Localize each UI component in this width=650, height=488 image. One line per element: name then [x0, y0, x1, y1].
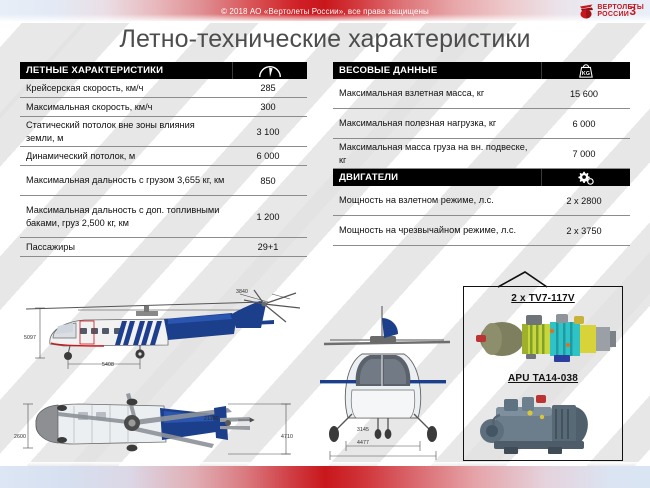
table-row: Максимальная взлетная масса, кг 15 600	[333, 79, 630, 109]
row-label: Мощность на взлетном режиме, л.с.	[333, 186, 538, 215]
row-label: Максимальная скорость, км/ч	[20, 99, 229, 115]
row-label: Максимальная дальность с доп. топливными…	[20, 196, 229, 237]
row-value: 2 x 2800	[538, 193, 630, 209]
apu-model-label: APU TA14-038	[464, 373, 622, 384]
table-row: Статический потолок вне зоны влияния зем…	[20, 117, 307, 147]
table-row: Максимальная дальность с грузом 3,655 кг…	[20, 166, 307, 196]
table-row: Крейсерская скорость, км/ч 285	[20, 79, 307, 98]
engines-header: ДВИГАТЕЛИ	[333, 169, 630, 186]
table-row: Мощность на чрезвычайном режиме, л.с. 2 …	[333, 216, 630, 246]
helicopter-front-view	[312, 300, 462, 460]
engine-model-label: 2 x TV7-117V	[464, 293, 622, 304]
weight-data-header: ВЕСОВЫЕ ДАННЫЕ KG	[333, 62, 630, 79]
dimension-3145: 3145	[357, 427, 369, 433]
dimension-4710: 4710	[281, 434, 293, 440]
engine-callout-box: 2 x TV7-117V	[463, 286, 623, 461]
row-value: 1 200	[229, 209, 307, 225]
footer-copyright: © 2018 АО «Вертолеты России», все права …	[0, 0, 650, 22]
row-label: Максимальная взлетная масса, кг	[333, 79, 538, 108]
table-row: Максимальная масса груза на вн. подвеске…	[333, 139, 630, 169]
row-value: 850	[229, 173, 307, 189]
apu-unit-image	[470, 391, 618, 457]
gears-icon	[541, 169, 630, 186]
flight-performance-table: ЛЕТНЫЕ ХАРАКТЕРИСТИКИ Крейсерская скорос…	[20, 62, 307, 257]
row-label: Мощность на чрезвычайном режиме, л.с.	[333, 216, 538, 245]
table-row: Максимальная полезная нагрузка, кг 6 000	[333, 109, 630, 139]
dimension-21100: 21100	[204, 416, 219, 422]
flight-performance-header-label: ЛЕТНЫЕ ХАРАКТЕРИСТИКИ	[26, 65, 163, 76]
row-value: 7 000	[538, 146, 630, 162]
helicopter-side-view	[18, 288, 308, 378]
speedometer-icon	[232, 62, 307, 79]
svg-text:KG: KG	[582, 71, 590, 77]
row-value: 2 x 3750	[538, 223, 630, 239]
footer-bar	[0, 466, 650, 488]
row-value: 285	[229, 80, 307, 96]
dimension-4477: 4477	[357, 440, 369, 446]
row-label: Максимальная полезная нагрузка, кг	[333, 109, 538, 138]
row-label: Пассажиры	[20, 239, 229, 255]
table-row: Максимальная дальность с доп. топливными…	[20, 196, 307, 238]
weight-kg-icon: KG	[541, 62, 630, 79]
dimension-2600: 2600	[14, 434, 26, 440]
page-title: Летно-технические характеристики	[0, 25, 650, 54]
row-value: 300	[229, 99, 307, 115]
slide-canvas: ВЕРТОЛЕТЫ РОССИИ Летно-технические харак…	[0, 0, 650, 488]
dimension-5408: 5408	[102, 362, 114, 368]
table-row: Мощность на взлетном режиме, л.с. 2 x 28…	[333, 186, 630, 216]
row-label: Статический потолок вне зоны влияния зем…	[20, 117, 229, 146]
dimension-5097: 5097	[24, 335, 36, 341]
helicopter-top-view	[14, 392, 310, 468]
row-label: Максимальная масса груза на вн. подвеске…	[333, 139, 538, 168]
flight-performance-header: ЛЕТНЫЕ ХАРАКТЕРИСТИКИ	[20, 62, 307, 79]
table-row: Динамический потолок, м 6 000	[20, 147, 307, 166]
row-value: 6 000	[229, 148, 307, 164]
weight-and-engines-tables: ВЕСОВЫЕ ДАННЫЕ KG Максимальная взлетная …	[333, 62, 630, 246]
row-label: Крейсерская скорость, км/ч	[20, 80, 229, 96]
row-value: 3 100	[229, 124, 307, 140]
row-label: Динамический потолок, м	[20, 148, 229, 164]
page-number: 3	[629, 0, 636, 22]
row-value: 6 000	[538, 116, 630, 132]
weight-data-header-label: ВЕСОВЫЕ ДАННЫЕ	[339, 65, 437, 76]
engines-header-label: ДВИГАТЕЛИ	[339, 172, 398, 183]
row-label: Максимальная дальность с грузом 3,655 кг…	[20, 166, 229, 195]
dimension-3840: 3840	[236, 289, 248, 295]
turboshaft-engine-image	[470, 309, 618, 371]
row-value: 29+1	[229, 239, 307, 255]
table-row: Максимальная скорость, км/ч 300	[20, 98, 307, 117]
row-value: 15 600	[538, 86, 630, 102]
table-row: Пассажиры 29+1	[20, 238, 307, 257]
